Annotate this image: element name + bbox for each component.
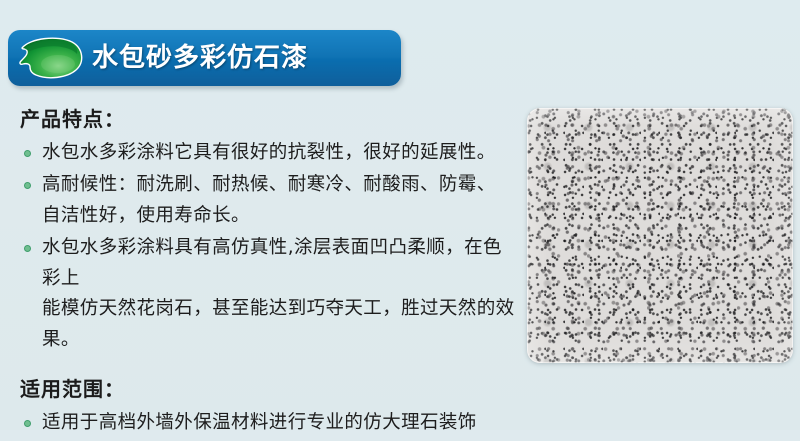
bullet-dot-icon bbox=[24, 150, 31, 157]
green-leaf-icon bbox=[18, 36, 86, 80]
list-item: 水包水多彩涂料它具有很好的抗裂性，很好的延展性。 bbox=[18, 138, 518, 169]
section-heading: 适用范围： bbox=[20, 374, 518, 404]
list-item-line: 适用于高档外墙外保温材料进行专业的仿大理石装饰 bbox=[42, 408, 518, 439]
list-item-line: 水包水多彩涂料具有高仿真性,涂层表面凹凸柔顺，在色彩上 bbox=[42, 233, 518, 295]
section-spacer bbox=[18, 358, 518, 374]
list-item-line: 自洁性好，使用寿命长。 bbox=[42, 201, 518, 232]
section-heading: 产品特点： bbox=[20, 104, 518, 134]
section-application-scope: 适用范围： 适用于高档外墙外保温材料进行专业的仿大理石装饰 bbox=[18, 374, 518, 439]
product-info-page: 水包砂多彩仿石漆 产品特点： 水包水多彩涂料它具有很好的抗裂性，很好的延展性。 … bbox=[0, 0, 800, 430]
list-item-line: 水包水多彩涂料它具有很好的抗裂性，很好的延展性。 bbox=[42, 138, 518, 169]
list-item-line: 能模仿天然花岗石，甚至能达到巧夺天工，胜过天然的效果。 bbox=[42, 294, 518, 356]
banner-title: 水包砂多彩仿石漆 bbox=[92, 45, 308, 71]
content-column: 产品特点： 水包水多彩涂料它具有很好的抗裂性，很好的延展性。 高耐候性：耐洗刷、… bbox=[18, 104, 518, 441]
feature-bullet-list: 水包水多彩涂料它具有很好的抗裂性，很好的延展性。 高耐候性：耐洗刷、耐热候、耐寒… bbox=[18, 138, 518, 356]
bullet-dot-icon bbox=[24, 182, 31, 189]
granite-texture-sample bbox=[527, 108, 793, 363]
bullet-dot-icon bbox=[24, 420, 31, 427]
list-item-line: 高耐候性：耐洗刷、耐热候、耐寒冷、耐酸雨、防霉、 bbox=[42, 170, 518, 201]
list-item: 水包水多彩涂料具有高仿真性,涂层表面凹凸柔顺，在色彩上 能模仿天然花岗石，甚至能… bbox=[18, 233, 518, 357]
list-item: 适用于高档外墙外保温材料进行专业的仿大理石装饰 bbox=[18, 408, 518, 439]
section-product-features: 产品特点： 水包水多彩涂料它具有很好的抗裂性，很好的延展性。 高耐候性：耐洗刷、… bbox=[18, 104, 518, 356]
header-banner: 水包砂多彩仿石漆 bbox=[8, 30, 401, 86]
scope-bullet-list: 适用于高档外墙外保温材料进行专业的仿大理石装饰 bbox=[18, 408, 518, 439]
bullet-dot-icon bbox=[24, 245, 31, 252]
list-item: 高耐候性：耐洗刷、耐热候、耐寒冷、耐酸雨、防霉、 自洁性好，使用寿命长。 bbox=[18, 170, 518, 232]
granite-texture-surface bbox=[527, 108, 793, 363]
